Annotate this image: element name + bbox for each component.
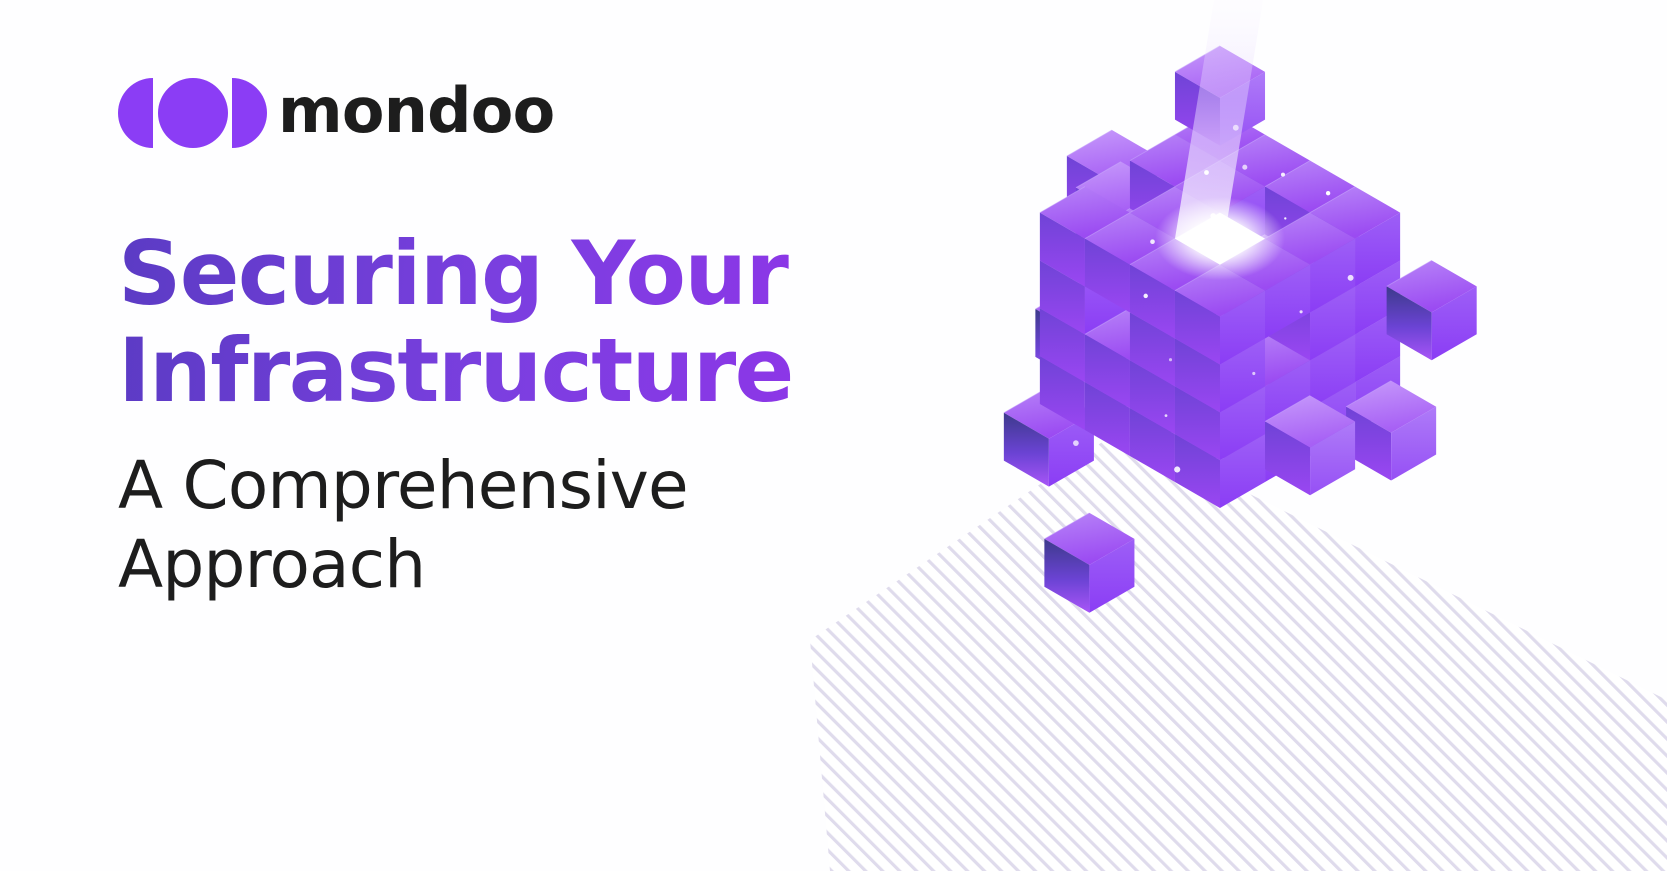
brand-logo[interactable]: mondoo (118, 72, 918, 154)
subtitle-line-2: Approach (118, 525, 918, 605)
sparkle-dot (1326, 191, 1330, 195)
headline-line-1: Securing Your (118, 226, 918, 323)
sparkle-dot (1204, 170, 1209, 175)
sparkle-dot (1073, 440, 1079, 446)
sparkle-dot (1165, 414, 1168, 417)
sparkle-dot (1281, 173, 1285, 177)
sparkle-dot (1242, 165, 1247, 170)
sparkle-dot (1252, 372, 1255, 375)
sparkle-dot (1284, 217, 1286, 219)
isometric-voxel-cube-illustration (790, 0, 1667, 871)
sparkle-dot (1150, 239, 1155, 244)
sparkle-dot (1300, 310, 1303, 313)
sparkle-dot (1143, 294, 1147, 298)
mondoo-logo-icon (118, 78, 252, 148)
sparkle-dot (1233, 125, 1239, 131)
hero-banner: mondoo Securing Your Infrastructure A Co… (0, 0, 1667, 871)
subtitle-line-1: A Comprehensive (118, 446, 918, 526)
page-title: Securing Your Infrastructure (118, 226, 918, 420)
sparkle-dot (1348, 275, 1354, 281)
sparkle-dot (1210, 213, 1216, 219)
logo-half-disc-right-icon (232, 78, 267, 148)
page-subtitle: A Comprehensive Approach (118, 446, 918, 606)
logo-circle-center-icon (158, 78, 228, 148)
sparkle-dot (1169, 358, 1172, 361)
sparkle-dot (1174, 466, 1180, 472)
logo-half-disc-left-icon (118, 78, 153, 148)
brand-wordmark: mondoo (278, 80, 554, 146)
text-column: mondoo Securing Your Infrastructure A Co… (118, 72, 918, 605)
headline-line-2: Infrastructure (118, 323, 918, 420)
